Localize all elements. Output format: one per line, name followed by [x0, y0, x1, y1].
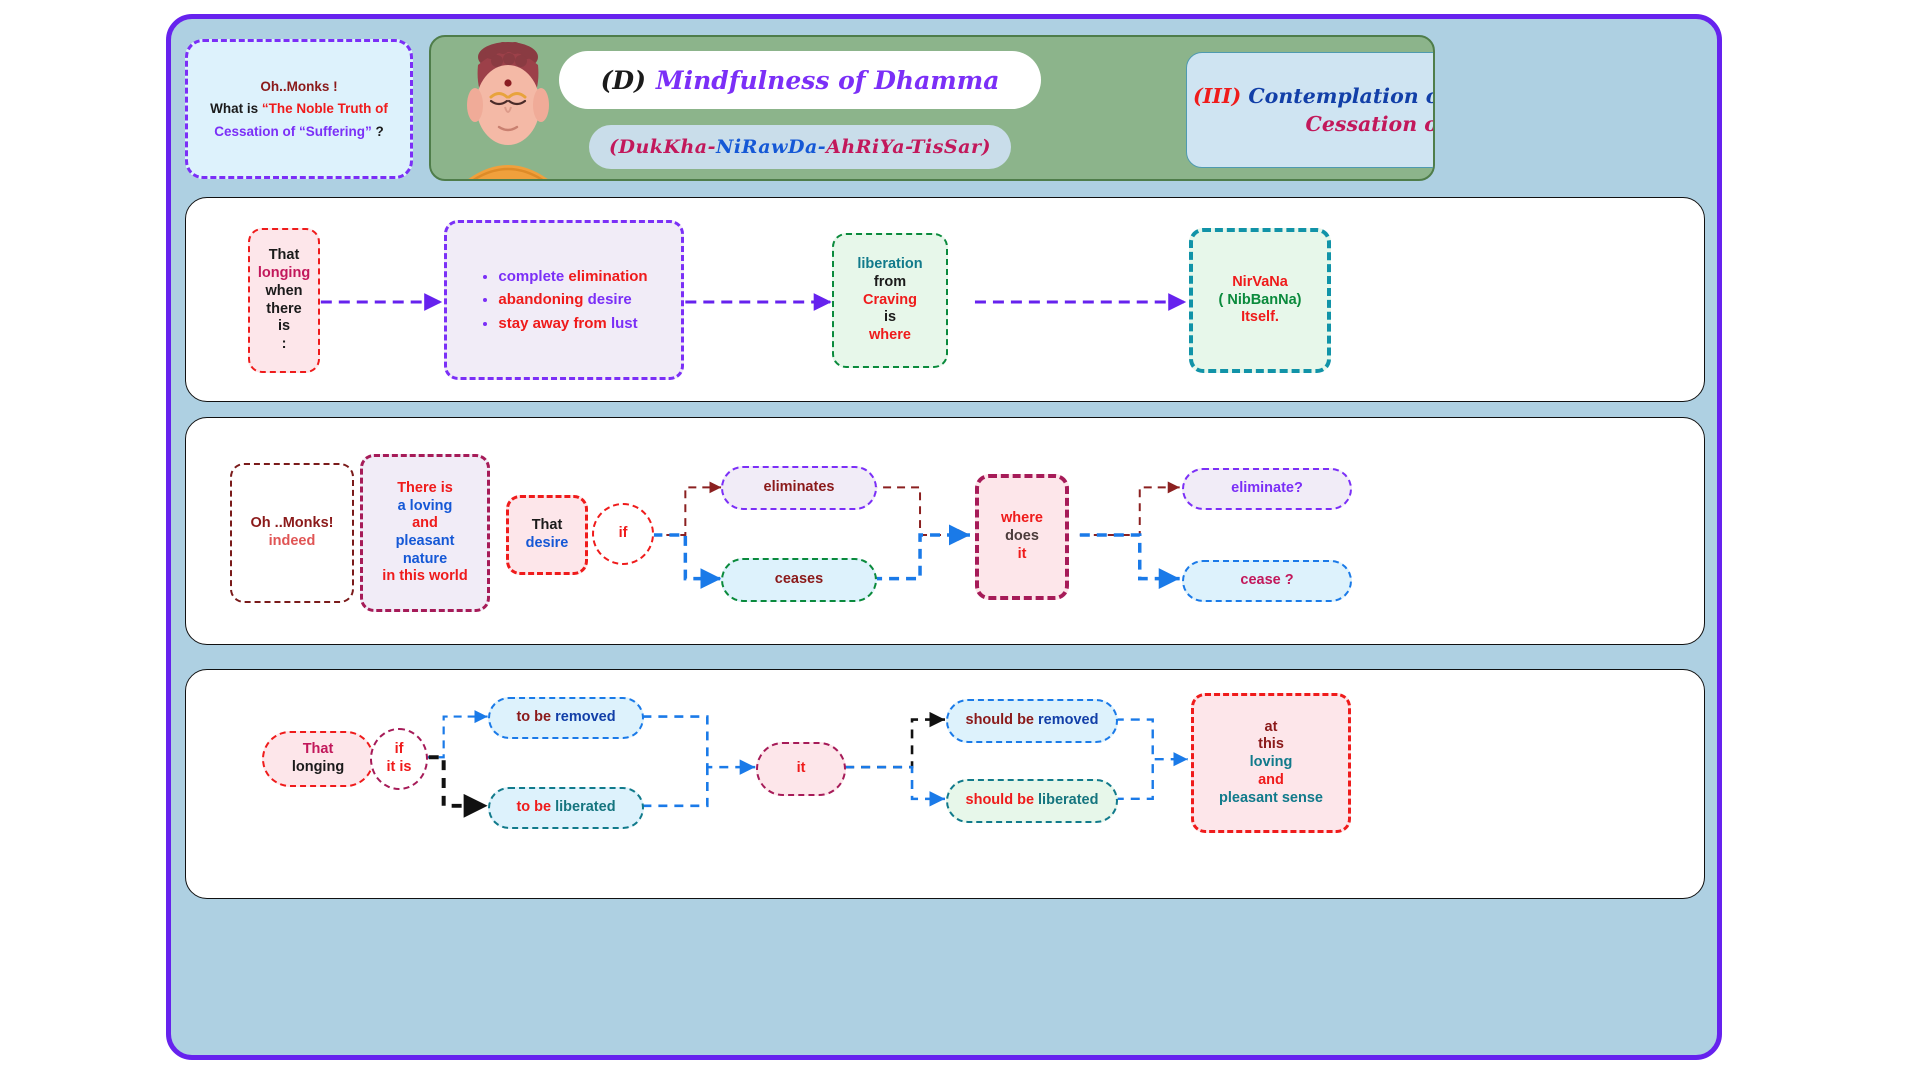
node-line: and [412, 515, 438, 533]
flow-panel-1: That longing when there is : complete el… [185, 197, 1705, 402]
node-if-it-is[interactable]: if it is [370, 728, 428, 790]
section-title-box: (III) Contemplation of The Noble Truth o… [1186, 52, 1435, 168]
header: Oh..Monks ! What is “The Noble Truth of … [185, 35, 1705, 183]
title-marker: (D) [601, 66, 646, 95]
main-title-pill: (D) Mindfulness of Dhamma [559, 51, 1041, 109]
node-that-longing[interactable]: That longing when there is : [248, 228, 320, 373]
node-line: liberation [857, 256, 922, 274]
subtitle: (DukKha-NiRawDa-AhRiYa-TisSar) [609, 136, 991, 158]
node-line: That [303, 741, 334, 759]
node-if[interactable]: if [592, 503, 654, 565]
question-line-2-prefix: What is [210, 101, 262, 116]
node-line: indeed [269, 533, 316, 551]
node-line: There is [397, 480, 453, 498]
node-line: That [269, 247, 300, 265]
node-line: eliminates [764, 479, 835, 497]
node-ceases[interactable]: ceases [721, 558, 877, 602]
node-line: where [869, 327, 911, 345]
node-nirvana[interactable]: NirVaNa ( NibBanNa) Itself. [1189, 228, 1331, 373]
node-text-b: liberated [1038, 792, 1098, 808]
node-liberation-from-craving[interactable]: liberation from Craving is where [832, 233, 948, 368]
elimination-bullet-list: complete elimination abandoning desire s… [480, 265, 647, 335]
flow-panel-2: Oh ..Monks! indeed There is a loving and… [185, 417, 1705, 645]
subtitle-part-3: AhRiYa [826, 136, 905, 158]
bullet-text-a: complete [498, 268, 568, 285]
node-line: should be liberated [966, 792, 1099, 810]
question-line-2-highlight: “The Noble Truth of [262, 101, 388, 116]
node-should-be-removed[interactable]: should be removed [946, 699, 1118, 743]
node-where-does-it[interactable]: where does it [975, 474, 1069, 600]
node-that-desire[interactable]: That desire [506, 495, 588, 575]
node-line: if [395, 741, 404, 759]
node-line: pleasant sense [1219, 790, 1323, 808]
node-line: it [797, 760, 806, 778]
question-line-3: Cessation of “Suffering” ? [214, 124, 384, 140]
node-line: where [1001, 510, 1043, 528]
poster-frame: Oh..Monks ! What is “The Noble Truth of … [166, 14, 1722, 1060]
question-box: Oh..Monks ! What is “The Noble Truth of … [185, 39, 413, 179]
node-line: Craving [863, 292, 917, 310]
node-line: ( NibBanNa) [1219, 292, 1302, 310]
question-line-1: Oh..Monks ! [260, 79, 337, 95]
subtitle-part-4: TisSar) [910, 136, 991, 158]
section-title-crimson-2: Cessation of [1306, 112, 1435, 136]
node-line: Oh ..Monks! [251, 515, 334, 533]
node-oh-monks-indeed[interactable]: Oh ..Monks! indeed [230, 463, 354, 603]
node-text-a: to be [516, 799, 555, 815]
question-line-3-suffix: ? [372, 124, 384, 139]
list-item: abandoning desire [498, 288, 647, 311]
section-title-line-2: Cessation of Suffering [1306, 112, 1435, 136]
node-line: to be liberated [516, 799, 615, 817]
node-line: cease ? [1240, 572, 1293, 590]
bullet-text-a: stay away from [498, 315, 611, 332]
node-line: loving [1250, 754, 1293, 772]
node-line: from [874, 274, 906, 292]
node-line: when [265, 283, 302, 301]
node-line: pleasant [396, 533, 455, 551]
list-item: stay away from lust [498, 312, 647, 335]
subtitle-sep-2: - [818, 136, 826, 158]
node-line: That [532, 517, 563, 535]
node-loving-pleasant-sense[interactable]: at this loving and pleasant sense [1191, 693, 1351, 833]
title-text: Mindfulness of Dhamma [656, 66, 999, 95]
bullet-text-b: desire [588, 291, 632, 308]
node-it[interactable]: it [756, 742, 846, 796]
node-line: should be removed [966, 712, 1099, 730]
node-line: and [1258, 772, 1284, 790]
question-line-2: What is “The Noble Truth of [210, 101, 388, 117]
node-line: ceases [775, 571, 823, 589]
bullet-text-b: elimination [568, 268, 647, 285]
flow-panel-3: That longing if it is to be removed to b… [185, 669, 1705, 899]
node-line: this [1258, 736, 1284, 754]
subtitle-part-1: (DukKha [609, 136, 708, 158]
question-line-3-highlight: Cessation of “Suffering” [214, 124, 372, 139]
subtitle-part-2: NiRawDa [716, 136, 818, 158]
subtitle-sep-1: - [708, 136, 716, 158]
node-that-longing-3[interactable]: That longing [262, 731, 374, 787]
node-line: if [619, 525, 628, 543]
node-elimination-list[interactable]: complete elimination abandoning desire s… [444, 220, 684, 380]
node-line: a loving [398, 498, 453, 516]
node-line: is [278, 318, 290, 336]
section-title-blue-1: Contemplation of [1248, 84, 1435, 108]
node-line: in this world [382, 568, 467, 586]
node-line: is [884, 309, 896, 327]
node-eliminates[interactable]: eliminates [721, 466, 877, 510]
subtitle-pill: (DukKha-NiRawDa-AhRiYa-TisSar) [589, 125, 1011, 169]
node-should-be-liberated[interactable]: should be liberated [946, 779, 1118, 823]
section-marker: (III) [1193, 84, 1241, 108]
node-line: NirVaNa [1232, 274, 1288, 292]
node-line: it [1018, 546, 1027, 564]
node-line: there [266, 301, 301, 319]
node-text-a: should be [966, 792, 1039, 808]
node-loving-pleasant-nature[interactable]: There is a loving and pleasant nature in… [360, 454, 490, 612]
bullet-text-a: abandoning [498, 291, 587, 308]
node-text-b: removed [555, 709, 615, 725]
node-cease-question[interactable]: cease ? [1182, 560, 1352, 602]
bullet-text-b: lust [611, 315, 638, 332]
node-text-a: to be [516, 709, 555, 725]
section-title-line-1: (III) Contemplation of The Noble Truth o… [1193, 84, 1435, 108]
list-item: complete elimination [498, 265, 647, 288]
node-line: at [1265, 719, 1278, 737]
node-line: longing [258, 265, 310, 283]
node-line: desire [526, 535, 569, 553]
node-to-be-liberated[interactable]: to be liberated [488, 787, 644, 829]
node-line: eliminate? [1231, 480, 1303, 498]
node-eliminate-question[interactable]: eliminate? [1182, 468, 1352, 510]
node-text-b: liberated [555, 799, 615, 815]
node-line: nature [403, 551, 447, 569]
node-to-be-removed[interactable]: to be removed [488, 697, 644, 739]
node-line: : [282, 336, 287, 354]
node-line: Itself. [1241, 309, 1279, 327]
node-line: it is [387, 759, 412, 777]
node-text-a: should be [966, 712, 1039, 728]
node-line: does [1005, 528, 1039, 546]
node-text-b: removed [1038, 712, 1098, 728]
buddha-meditating-icon [443, 35, 573, 181]
header-banner: (D) Mindfulness of Dhamma (DukKha-NiRawD… [429, 35, 1435, 181]
node-line: to be removed [516, 709, 615, 727]
node-line: longing [292, 759, 344, 777]
